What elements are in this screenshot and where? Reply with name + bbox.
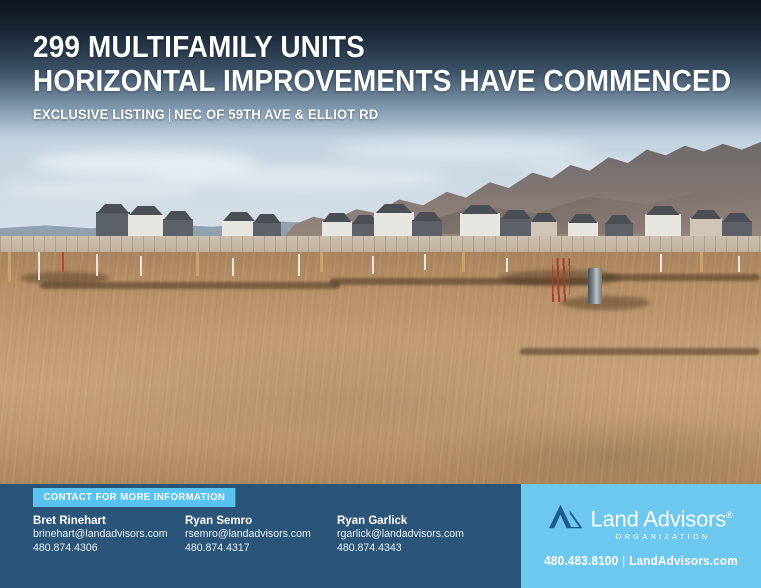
roof	[371, 204, 417, 213]
roof	[602, 215, 636, 224]
footer: CONTACT FOR MORE INFORMATION Bret Rineha…	[0, 484, 761, 588]
roof	[565, 214, 601, 223]
roof	[409, 212, 445, 221]
brand-phone[interactable]: 480.483.8100	[544, 554, 618, 568]
trench	[520, 348, 760, 355]
roof	[457, 205, 503, 214]
survey-stake	[38, 252, 40, 280]
house	[500, 218, 532, 238]
roof	[687, 210, 725, 219]
house	[690, 218, 722, 238]
house	[460, 213, 500, 238]
brand-name-text: Land Advisors	[590, 506, 726, 531]
survey-stake	[700, 252, 703, 272]
survey-stake	[424, 254, 426, 270]
brand-contact: 480.483.8100|LandAdvisors.com	[544, 554, 738, 568]
contact-card: Bret Rinehart brinehart@landadvisors.com…	[33, 514, 185, 555]
contact-email[interactable]: rsemro@landadvisors.com	[185, 528, 331, 542]
contact-email[interactable]: rgarlick@landadvisors.com	[337, 528, 496, 542]
roof	[319, 213, 355, 222]
survey-stake	[62, 252, 64, 272]
roof	[219, 212, 259, 221]
roof	[719, 213, 755, 222]
subheadline: EXCLUSIVE LISTING|NEC OF 59TH AVE & ELLI…	[33, 106, 703, 122]
headline-line-2: HORIZONTAL IMPROVEMENTS HAVE COMMENCED	[33, 64, 688, 98]
house	[374, 212, 414, 238]
contact-name: Ryan Semro	[185, 514, 337, 528]
listing-type: EXCLUSIVE LISTING	[33, 106, 165, 122]
roof	[497, 210, 535, 219]
registered-mark: ®	[726, 510, 732, 520]
survey-stake	[462, 252, 465, 272]
brand-name: Land Advisors®	[590, 504, 732, 530]
survey-stake	[738, 256, 740, 272]
roof	[528, 213, 560, 222]
contact-card: Ryan Semro rsemro@landadvisors.com 480.8…	[185, 514, 337, 555]
survey-stake	[660, 254, 662, 272]
house	[128, 214, 164, 238]
contact-phone[interactable]: 480.874.4317	[185, 542, 331, 556]
survey-stake	[140, 256, 142, 276]
survey-stake	[372, 256, 374, 274]
utility-riser	[588, 268, 602, 304]
survey-stake	[506, 258, 508, 272]
logo-row: Land Advisors®	[549, 504, 732, 530]
survey-stake	[8, 252, 11, 282]
contact-list: Bret Rinehart brinehart@landadvisors.com…	[33, 514, 503, 555]
cloud	[330, 140, 590, 162]
contact-name: Ryan Garlick	[337, 514, 503, 528]
dirt-pile	[560, 296, 650, 310]
survey-stake	[232, 258, 234, 276]
roof	[642, 206, 684, 215]
brand-website[interactable]: LandAdvisors.com	[629, 554, 738, 568]
trench	[600, 274, 760, 281]
contact-card: Ryan Garlick rgarlick@landadvisors.com 4…	[337, 514, 503, 555]
rebar-bundle	[552, 258, 570, 302]
cloud	[150, 168, 450, 188]
roof	[93, 204, 133, 213]
house	[96, 212, 130, 238]
house	[645, 214, 681, 238]
survey-stake	[320, 252, 323, 272]
contact-phone[interactable]: 480.874.4306	[33, 542, 179, 556]
subhead-divider: |	[165, 106, 174, 122]
contact-email[interactable]: brinehart@landadvisors.com	[33, 528, 179, 542]
graded-dirt-lot	[0, 252, 761, 484]
mountain-peak-logo-icon	[549, 504, 583, 529]
property-location: NEC OF 59TH AVE & ELLIOT RD	[174, 106, 378, 122]
survey-stake	[96, 254, 98, 276]
flyer-page: 299 MULTIFAMILY UNITS HORIZONTAL IMPROVE…	[0, 0, 761, 588]
survey-stake	[196, 252, 199, 276]
contact-name: Bret Rinehart	[33, 514, 185, 528]
brand-logo-block[interactable]: Land Advisors® ORGANIZATION 480.483.8100…	[521, 484, 761, 588]
headline-line-1: 299 MULTIFAMILY UNITS	[33, 30, 688, 64]
brand-separator: |	[618, 554, 629, 568]
roof	[160, 211, 196, 220]
contact-badge: CONTACT FOR MORE INFORMATION	[33, 488, 236, 507]
contact-phone[interactable]: 480.874.4343	[337, 542, 496, 556]
brand-tagline: ORGANIZATION	[616, 532, 711, 541]
roof	[125, 206, 167, 215]
survey-stake	[298, 254, 300, 276]
roof	[250, 214, 284, 223]
header-overlay: 299 MULTIFAMILY UNITS HORIZONTAL IMPROVE…	[0, 0, 761, 140]
